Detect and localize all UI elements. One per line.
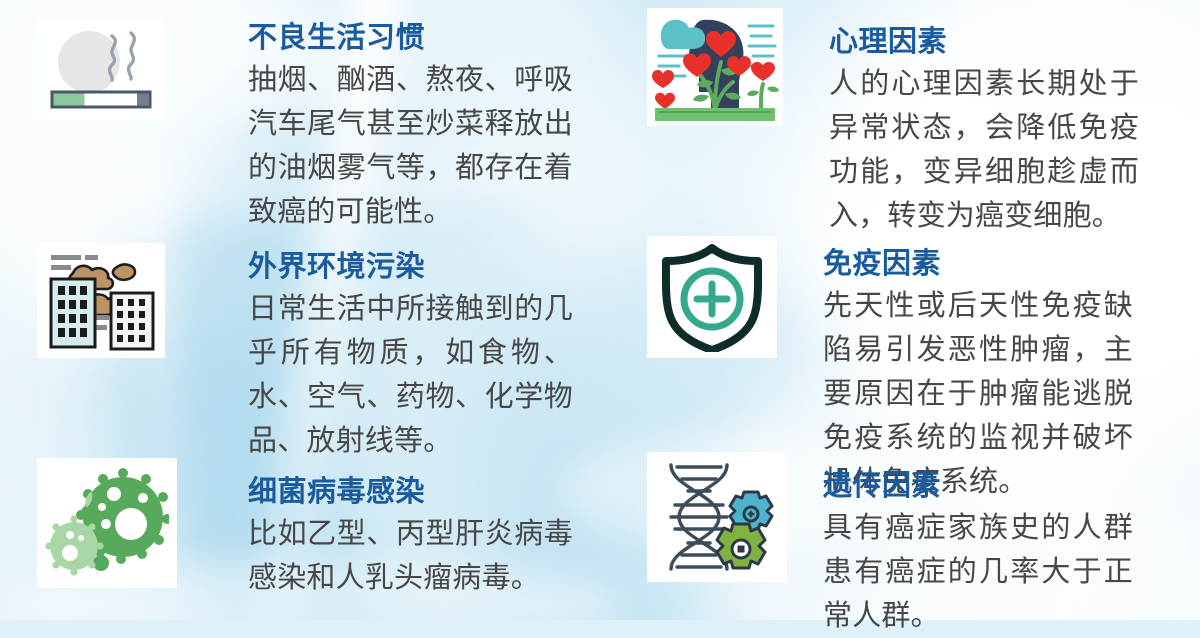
card-body: 抽烟、酗酒、熬夜、呼吸汽车尾气甚至炒菜释放出的油烟雾气等，都存在着致癌的可能性。 [248,58,573,234]
head-heart-flowers-icon [647,8,783,126]
card-title: 遗传因素 [823,466,1133,506]
card-title: 不良生活习惯 [248,18,573,58]
factor-card-bacterial-viral-infection: 细菌病毒感染 比如乙型、丙型肝炎病毒感染和人乳头瘤病毒。 [37,458,573,600]
shield-plus-icon [647,236,777,358]
card-body: 日常生活中所接触到的几乎所有物质，如食物、水、空气、药物、化学物品、放射线等。 [248,287,573,463]
factory-smog-icon [37,243,165,358]
factor-card-genetic-factors: 遗传因素 具有癌症家族史的人群患有癌症的几率大于正常人群。 [647,452,1133,638]
card-title: 外界环境污染 [248,247,573,287]
cigarette-smoke-icon [37,20,165,120]
card-body: 人的心理因素长期处于异常状态，会降低免疫功能，变异细胞趁虚而入，转变为癌变细胞。 [829,62,1139,238]
card-title: 心理因素 [829,22,1139,62]
dna-gears-icon [647,452,787,582]
factor-card-bad-lifestyle-habits: 不良生活习惯 抽烟、酗酒、熬夜、呼吸汽车尾气甚至炒菜释放出的油烟雾气等，都存在着… [37,20,573,234]
factor-card-environmental-pollution: 外界环境污染 日常生活中所接触到的几乎所有物质，如食物、水、空气、药物、化学物品… [37,243,573,463]
card-title: 免疫因素 [823,244,1133,284]
card-body: 具有癌症家族史的人群患有癌症的几率大于正常人群。 [823,506,1133,638]
card-body: 比如乙型、丙型肝炎病毒感染和人乳头瘤病毒。 [248,512,573,600]
factor-card-grid: 不良生活习惯 抽烟、酗酒、熬夜、呼吸汽车尾气甚至炒菜释放出的油烟雾气等，都存在着… [0,0,1200,620]
virus-cells-icon [37,458,177,588]
card-title: 细菌病毒感染 [248,472,573,512]
factor-card-psychological-factors: 心理因素 人的心理因素长期处于异常状态，会降低免疫功能，变异细胞趁虚而入，转变为… [647,8,1139,238]
